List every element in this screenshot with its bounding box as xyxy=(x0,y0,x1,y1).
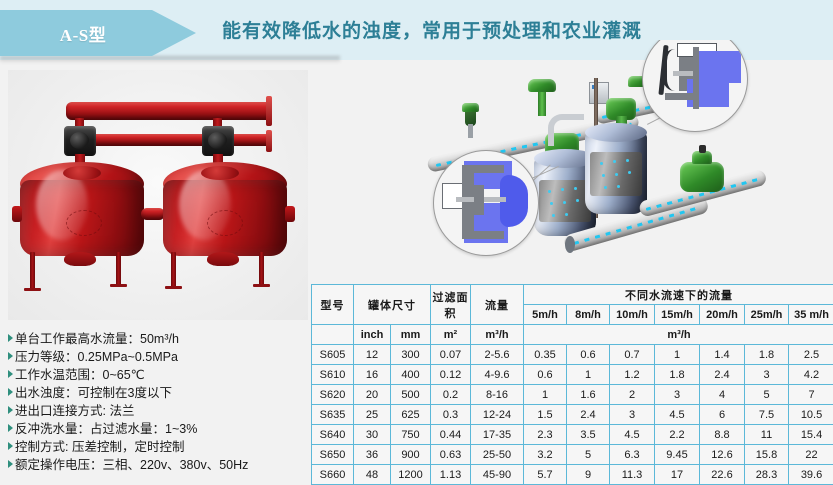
table-cell: 1.6 xyxy=(567,385,610,405)
callout-circle-bottom-left xyxy=(433,150,539,256)
th-unit-m3h-group: m³/h xyxy=(524,325,833,345)
table-cell: 3.2 xyxy=(524,445,567,465)
table-cell: 0.12 xyxy=(431,365,471,385)
table-row: S610164000.124-9.60.611.21.82.434.2 xyxy=(312,365,833,385)
th-unit-mm: mm xyxy=(391,325,431,345)
table-cell: 11.3 xyxy=(610,465,655,485)
right-tank-leg-1 xyxy=(171,252,176,288)
table-cell: 4.5 xyxy=(655,405,700,425)
th-flow: 流量 xyxy=(471,285,524,325)
bullet-triangle-icon xyxy=(8,424,13,432)
model-label: A-S型 xyxy=(60,21,136,46)
table-cell: 2.3 xyxy=(524,425,567,445)
th-unit-inch: inch xyxy=(354,325,391,345)
th-speed-35: 35 m/h xyxy=(789,305,833,325)
right-valve-cap xyxy=(208,132,227,149)
table-row: S605123000.072-5.60.350.60.711.41.82.5 xyxy=(312,345,833,365)
spec-item-text: 单台工作最高水流量：50m³/h xyxy=(15,330,179,348)
table-cell: 400 xyxy=(391,365,431,385)
table-cell: 8.8 xyxy=(700,425,745,445)
table-cell: 9 xyxy=(567,465,610,485)
spec-item: 工作水温范围：0~65℃ xyxy=(8,366,308,384)
cutaway-top-bottom-plate xyxy=(665,93,693,100)
table-cell: 3 xyxy=(745,365,789,385)
spec-item: 反冲洗水量：占过滤水量：1~3% xyxy=(8,420,308,438)
table-cell: 1.8 xyxy=(655,365,700,385)
spec-bullet-list: 单台工作最高水流量：50m³/h 压力等级：0.25MPa~0.5MPa 工作水… xyxy=(8,330,308,474)
left-tank-foot-1 xyxy=(24,288,41,291)
table-header-row-1: 型号 罐体尺寸 过滤面积 流量 不同水流速下的流量 xyxy=(312,285,833,305)
right-tank-side-porthole xyxy=(207,210,243,236)
table-cell: 1.4 xyxy=(700,345,745,365)
table-cell: 625 xyxy=(391,405,431,425)
table-cell: 22 xyxy=(789,445,833,465)
table-cell: 3.5 xyxy=(567,425,610,445)
table-cell: 1.5 xyxy=(524,405,567,425)
table-cell: 8-16 xyxy=(471,385,524,405)
table-cell: 15.4 xyxy=(789,425,833,445)
table-row: S640307500.4417-352.33.54.52.28.81115.4 xyxy=(312,425,833,445)
cell-model: S620 xyxy=(312,385,354,405)
bullet-triangle-icon xyxy=(8,388,13,396)
diagram-media-dot xyxy=(617,185,620,188)
table-cell: 48 xyxy=(354,465,391,485)
diagram-mushroom-valve-stem xyxy=(538,90,546,116)
table-cell: 12 xyxy=(354,345,391,365)
diagram-media-dot xyxy=(628,171,631,174)
spec-item: 进出口连接方式: 法兰 xyxy=(8,402,308,420)
left-tank-topflange xyxy=(63,166,101,180)
cutaway-top-flange xyxy=(693,47,699,109)
table-cell: 20 xyxy=(354,385,391,405)
diagram-outlet-pipe-opening xyxy=(565,236,575,253)
left-tank-side-porthole xyxy=(66,210,102,236)
table-cell: 0.63 xyxy=(431,445,471,465)
table-cell: 2.4 xyxy=(700,365,745,385)
table-cell: 5 xyxy=(745,385,789,405)
table-cell: 2.5 xyxy=(789,345,833,365)
left-tank-leg-2 xyxy=(116,252,121,286)
diagram-vessel-right-top xyxy=(585,123,647,142)
cell-model: S605 xyxy=(312,345,354,365)
spec-item: 单台工作最高水流量：50m³/h xyxy=(8,330,308,348)
diagram-left-tank-valve-elbow xyxy=(548,114,584,146)
table-cell: 10.5 xyxy=(789,405,833,425)
table-cell: 0.2 xyxy=(431,385,471,405)
table-cell: 3 xyxy=(655,385,700,405)
cell-model: S635 xyxy=(312,405,354,425)
cutaway-bot-body xyxy=(462,173,474,231)
table-cell: 36 xyxy=(354,445,391,465)
table-cell: 7 xyxy=(789,385,833,405)
spec-item-text: 出水浊度：可控制在3度以下 xyxy=(15,384,172,402)
diagram-mushroom-valve-cap xyxy=(528,79,556,92)
table-cell: 500 xyxy=(391,385,431,405)
table-cell: 1 xyxy=(524,385,567,405)
left-tank-foot-2 xyxy=(110,284,127,287)
spec-item-text: 反冲洗水量：占过滤水量：1~3% xyxy=(15,420,197,438)
spec-item: 压力等级：0.25MPa~0.5MPa xyxy=(8,348,308,366)
left-tank-leg-1 xyxy=(30,252,35,290)
table-row: S6604812001.1345-905.7911.31722.628.339.… xyxy=(312,465,833,485)
left-valve-cap xyxy=(70,132,89,149)
diagram-media-dot xyxy=(574,187,577,190)
spec-item-text: 进出口连接方式: 法兰 xyxy=(15,402,134,420)
table-cell: 1 xyxy=(567,365,610,385)
table-cell: 6.3 xyxy=(610,445,655,465)
diagram-media-dot xyxy=(550,202,553,205)
spec-item: 控制方式: 压差控制，定时控制 xyxy=(8,438,308,456)
diagram-media-dot xyxy=(613,160,616,163)
th-flow-group: 不同水流速下的流量 xyxy=(524,285,833,305)
system-diagram xyxy=(400,40,833,290)
diagram-media-dot xyxy=(576,199,579,202)
table-cell: 0.07 xyxy=(431,345,471,365)
table-cell: 0.35 xyxy=(524,345,567,365)
table-cell: 4-9.6 xyxy=(471,365,524,385)
table-cell: 9.45 xyxy=(655,445,700,465)
table-cell: 0.3 xyxy=(431,405,471,425)
bottom-manifold-endcap xyxy=(266,130,272,152)
th-speed-20: 20m/h xyxy=(700,305,745,325)
th-speed-5: 5m/h xyxy=(524,305,567,325)
table-cell: 3 xyxy=(610,405,655,425)
right-tank-drain xyxy=(207,252,239,266)
table-cell: 1.2 xyxy=(610,365,655,385)
table-cell: 30 xyxy=(354,425,391,445)
bullet-triangle-icon xyxy=(8,334,13,342)
spec-item: 出水浊度：可控制在3度以下 xyxy=(8,384,308,402)
th-unit-blank xyxy=(312,325,354,345)
table-cell: 2.2 xyxy=(655,425,700,445)
cutaway-bot-seat xyxy=(474,185,484,215)
right-tank-right-nozzle xyxy=(285,206,295,222)
th-speed-25: 25m/h xyxy=(745,305,789,325)
table-cell: 4.5 xyxy=(610,425,655,445)
bullet-triangle-icon xyxy=(8,460,13,468)
table-cell: 39.6 xyxy=(789,465,833,485)
spec-item-text: 控制方式: 压差控制，定时控制 xyxy=(15,438,184,456)
table-row: S650369000.6325-503.256.39.4512.615.822 xyxy=(312,445,833,465)
diagram-media-dot xyxy=(602,174,605,177)
table-cell: 17-35 xyxy=(471,425,524,445)
bullet-triangle-icon xyxy=(8,352,13,360)
cutaway-bot-topflange xyxy=(462,165,504,173)
bullet-triangle-icon xyxy=(8,370,13,378)
table-cell: 0.6 xyxy=(524,365,567,385)
top-manifold-endcap xyxy=(266,96,272,126)
left-tank-drain xyxy=(64,252,96,266)
table-cell: 25-50 xyxy=(471,445,524,465)
diagram-media-dot xyxy=(615,173,618,176)
diagram-media-dot xyxy=(565,213,568,216)
table-cell: 900 xyxy=(391,445,431,465)
table-cell: 11 xyxy=(745,425,789,445)
specification-table: 型号 罐体尺寸 过滤面积 流量 不同水流速下的流量 5m/h 8m/h 10m/… xyxy=(311,284,833,485)
table-unit-row: inch mm m² m³/h m³/h xyxy=(312,325,833,345)
left-tank-left-nozzle xyxy=(12,206,22,222)
spec-item-text: 压力等级：0.25MPa~0.5MPa xyxy=(15,348,178,366)
th-model: 型号 xyxy=(312,285,354,325)
table-cell: 4 xyxy=(700,385,745,405)
table-cell: 15.8 xyxy=(745,445,789,465)
cell-model: S660 xyxy=(312,465,354,485)
table-cell: 6 xyxy=(700,405,745,425)
table-cell: 2-5.6 xyxy=(471,345,524,365)
table-cell: 45-90 xyxy=(471,465,524,485)
table-cell: 5.7 xyxy=(524,465,567,485)
table-cell: 0.44 xyxy=(431,425,471,445)
diagram-air-valve-left-stem xyxy=(468,124,473,138)
top-manifold-pipe xyxy=(66,102,272,120)
bottom-manifold-pipe xyxy=(86,134,272,146)
table-cell: 22.6 xyxy=(700,465,745,485)
bullet-triangle-icon xyxy=(8,442,13,450)
table-cell: 4.2 xyxy=(789,365,833,385)
diagram-media-dot xyxy=(548,190,551,193)
table-cell: 2.4 xyxy=(567,405,610,425)
spec-item-text: 额定操作电压：三相、220v、380v、50Hz xyxy=(15,456,248,474)
table-row: S635256250.312-241.52.434.567.510.5 xyxy=(312,405,833,425)
spec-item-text: 工作水温范围：0~65℃ xyxy=(15,366,145,384)
diagram-media-dot xyxy=(626,159,629,162)
diagram-main-control-valve-stem xyxy=(699,145,706,153)
tank-interconnect-pipe xyxy=(141,208,165,220)
diagram-media-dot xyxy=(552,214,555,217)
table-cell: 25 xyxy=(354,405,391,425)
table-cell: 750 xyxy=(391,425,431,445)
cell-model: S610 xyxy=(312,365,354,385)
product-photo xyxy=(8,70,308,320)
diagram-media-dot xyxy=(600,162,603,165)
bullet-triangle-icon xyxy=(8,406,13,414)
table-cell: 7.5 xyxy=(745,405,789,425)
table-cell: 1200 xyxy=(391,465,431,485)
table-cell: 2 xyxy=(610,385,655,405)
th-filter-area: 过滤面积 xyxy=(431,285,471,325)
cell-model: S640 xyxy=(312,425,354,445)
diagram-media-dot xyxy=(561,188,564,191)
table-cell: 300 xyxy=(391,345,431,365)
th-tank-size: 罐体尺寸 xyxy=(354,285,431,325)
right-tank-foot-2 xyxy=(253,284,270,287)
table-cell: 16 xyxy=(354,365,391,385)
table-cell: 1.13 xyxy=(431,465,471,485)
diagram-main-control-valve xyxy=(680,162,724,192)
right-tank-leg-2 xyxy=(259,252,264,286)
cell-model: S650 xyxy=(312,445,354,465)
right-tank-foot-1 xyxy=(165,286,182,289)
spec-item: 额定操作电压：三相、220v、380v、50Hz xyxy=(8,456,308,474)
cutaway-bot-bottomflange xyxy=(462,231,504,239)
table-cell: 12-24 xyxy=(471,405,524,425)
table-cell: 5 xyxy=(567,445,610,465)
table-cell: 17 xyxy=(655,465,700,485)
right-tank-topflange xyxy=(201,166,239,180)
table-cell: 0.7 xyxy=(610,345,655,365)
diagram-media-dot xyxy=(604,186,607,189)
th-speed-8: 8m/h xyxy=(567,305,610,325)
table-cell: 0.6 xyxy=(567,345,610,365)
header-band-shadow xyxy=(0,56,340,63)
table-cell: 1.8 xyxy=(745,345,789,365)
th-unit-m2: m² xyxy=(431,325,471,345)
diagram-air-valve-left-cap xyxy=(462,103,479,112)
th-speed-10: 10m/h xyxy=(610,305,655,325)
header-subtitle: 能有效降低水的浊度，常用于预处理和农业灌溉 xyxy=(222,16,642,43)
table-cell: 1 xyxy=(655,345,700,365)
table-row: S620205000.28-1611.623457 xyxy=(312,385,833,405)
diagram-media-dot xyxy=(563,201,566,204)
th-unit-m3h: m³/h xyxy=(471,325,524,345)
table-cell: 12.6 xyxy=(700,445,745,465)
table-cell: 28.3 xyxy=(745,465,789,485)
th-speed-15: 15m/h xyxy=(655,305,700,325)
table-body: S605123000.072-5.60.350.60.711.41.82.5S6… xyxy=(312,345,833,485)
